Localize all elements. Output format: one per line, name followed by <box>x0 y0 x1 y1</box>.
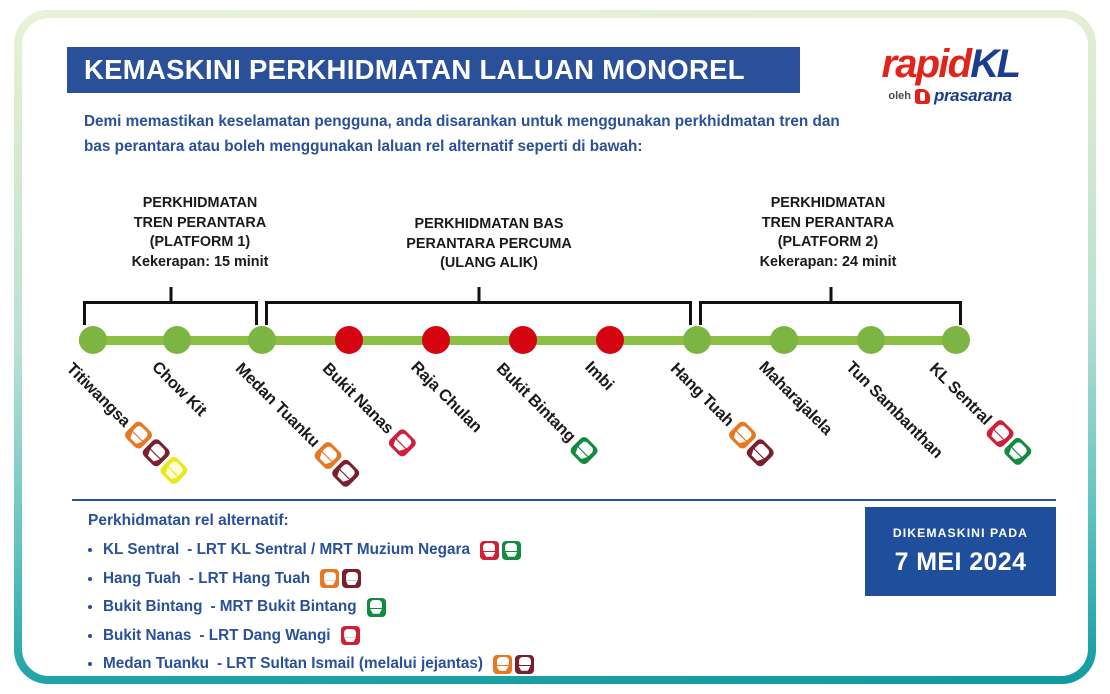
alternative-badges <box>367 598 386 617</box>
orange-line-badge-icon <box>493 655 512 674</box>
station-stop-raja-chulan[interactable] <box>422 326 450 354</box>
bullet-icon <box>88 548 92 552</box>
bullet-icon <box>88 662 92 666</box>
bracket-group-1 <box>83 301 258 325</box>
alternative-station-name: Hang Tuah <box>103 570 181 588</box>
green-line-badge-icon <box>367 598 386 617</box>
page-title-bar: KEMASKINI PERKHIDMATAN LALUAN MONOREL <box>67 47 800 93</box>
station-label-chow-kit: Chow Kit <box>148 358 212 422</box>
bullet-icon <box>88 605 92 609</box>
alternative-station-name: Bukit Bintang <box>103 598 202 616</box>
alternative-list-item: Bukit Bintang- MRT Bukit Bintang <box>88 593 808 622</box>
group-caption-free-shuttle-bus: PERKHIDMATAN BAS PERANTARA PERCUMA (ULAN… <box>352 215 626 274</box>
alternative-list-item: Bukit Nanas- LRT Dang Wangi <box>88 622 808 651</box>
station-stop-hang-tuah[interactable] <box>683 326 711 354</box>
station-name: Medan Tuanku <box>232 359 325 452</box>
updated-label: DIKEMASKINI PADA <box>893 526 1028 540</box>
content-card: KEMASKINI PERKHIDMATAN LALUAN MONOREL ra… <box>22 18 1088 676</box>
alternative-station-name: Medan Tuanku <box>103 655 209 673</box>
station-stop-imbi[interactable] <box>596 326 624 354</box>
alternative-station-name: Bukit Nanas <box>103 627 191 645</box>
bracket-tick <box>169 287 172 304</box>
crimson-line-badge-icon <box>341 626 360 645</box>
station-label-maharajalela: Maharajalela <box>755 358 838 441</box>
station-stop-bukit-nanas[interactable] <box>335 326 363 354</box>
station-label-raja-chulan: Raja Chulan <box>407 358 487 438</box>
alternative-badges <box>341 626 360 645</box>
station-name: Raja Chulan <box>407 358 487 438</box>
alternative-detail: - MRT Bukit Bintang <box>210 598 356 616</box>
intro-paragraph: Demi memastikan keselamatan pengguna, an… <box>84 110 844 159</box>
maroon-line-badge-icon <box>342 569 361 588</box>
alternative-list-item: Medan Tuanku- LRT Sultan Ismail (melalui… <box>88 650 808 676</box>
alternative-list-item: KL Sentral- LRT KL Sentral / MRT Muzium … <box>88 536 808 565</box>
alternative-detail: - LRT KL Sentral / MRT Muzium Negara <box>187 541 470 559</box>
alternative-list-item: Hang Tuah- LRT Hang Tuah <box>88 565 808 594</box>
bracket-group-3 <box>699 301 962 325</box>
gradient-frame: KEMASKINI PERKHIDMATAN LALUAN MONOREL ra… <box>14 10 1096 684</box>
logo-subline: oleh prasarana <box>850 86 1050 106</box>
logo-prasarana-text: prasarana <box>934 86 1012 106</box>
alternative-detail: - LRT Dang Wangi <box>199 627 330 645</box>
station-stop-maharajalela[interactable] <box>770 326 798 354</box>
updated-date: 7 MEI 2024 <box>895 548 1027 577</box>
station-stop-titiwangsa[interactable] <box>79 326 107 354</box>
section-divider <box>72 499 1056 501</box>
infographic-root: KEMASKINI PERKHIDMATAN LALUAN MONOREL ra… <box>0 0 1110 694</box>
alternative-detail: - LRT Sultan Ismail (melalui jejantas) <box>217 655 483 673</box>
alternatives-list: KL Sentral- LRT KL Sentral / MRT Muzium … <box>88 536 808 676</box>
prasarana-icon <box>915 89 930 104</box>
alternatives-heading: Perkhidmatan rel alternatif: <box>88 512 289 530</box>
logo-oleh-text: oleh <box>888 90 911 102</box>
station-name: Maharajalela <box>755 358 838 441</box>
green-line-badge-icon <box>502 541 521 560</box>
group-caption-train-platform-1: PERKHIDMATAN TREN PERANTARA (PLATFORM 1)… <box>82 194 318 272</box>
alternative-badges <box>320 569 361 588</box>
alternative-detail: - LRT Hang Tuah <box>189 570 310 588</box>
station-name: Imbi <box>581 358 619 396</box>
bracket-group-2 <box>265 301 692 325</box>
alternative-badges <box>480 541 521 560</box>
group-caption-train-platform-2: PERKHIDMATAN TREN PERANTARA (PLATFORM 2)… <box>700 194 956 272</box>
bullet-icon <box>88 634 92 638</box>
station-name: KL Sentral <box>926 359 997 430</box>
rapidkl-logo: rapidKL oleh prasarana <box>850 44 1050 106</box>
station-label-imbi: Imbi <box>581 358 619 396</box>
station-name: Chow Kit <box>148 358 212 422</box>
station-stop-medan-tuanku[interactable] <box>248 326 276 354</box>
station-name: Bukit Bintang <box>493 359 581 447</box>
station-stop-chow-kit[interactable] <box>163 326 191 354</box>
station-stop-kl-sentral[interactable] <box>942 326 970 354</box>
station-name: Bukit Nanas <box>319 359 399 439</box>
station-label-bukit-nanas: Bukit Nanas <box>317 358 417 458</box>
logo-kl-text: KL <box>970 42 1018 86</box>
bullet-icon <box>88 577 92 581</box>
orange-line-badge-icon <box>320 569 339 588</box>
crimson-line-badge-icon <box>480 541 499 560</box>
station-name: Titiwangsa <box>63 359 136 432</box>
alternative-station-name: KL Sentral <box>103 541 179 559</box>
bracket-tick <box>829 287 832 304</box>
station-stop-bukit-bintang[interactable] <box>509 326 537 354</box>
page-title: KEMASKINI PERKHIDMATAN LALUAN MONOREL <box>84 54 745 86</box>
logo-wordmark: rapidKL <box>850 44 1050 84</box>
updated-on-box: DIKEMASKINI PADA 7 MEI 2024 <box>865 507 1056 596</box>
alternative-badges <box>493 655 534 674</box>
logo-rapid-text: rapid <box>881 42 970 86</box>
maroon-line-badge-icon <box>515 655 534 674</box>
station-name: Hang Tuah <box>667 359 740 432</box>
station-stop-tun-sambanthan[interactable] <box>857 326 885 354</box>
bracket-tick <box>477 287 480 304</box>
